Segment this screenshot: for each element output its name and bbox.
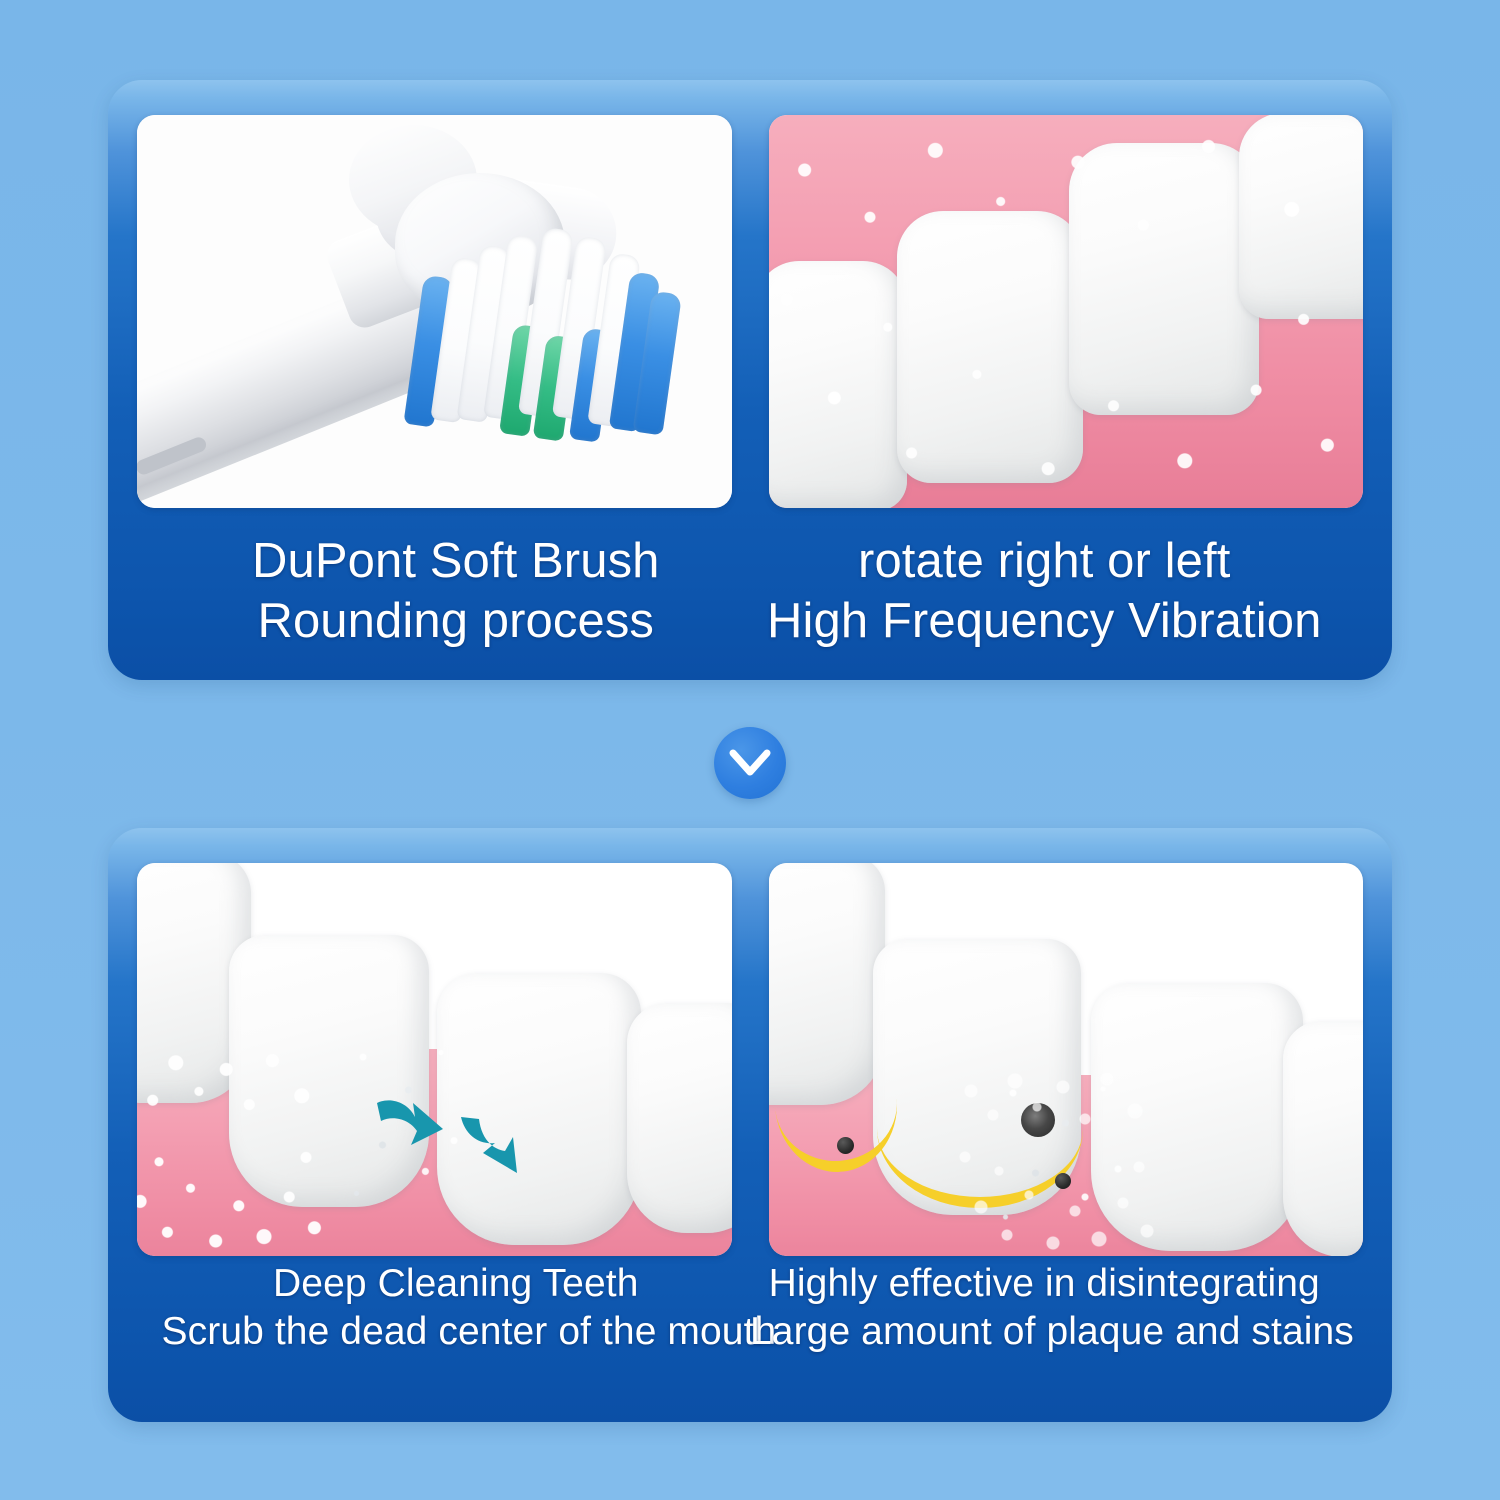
tooth-2 (897, 211, 1083, 483)
caption-plaque-line-2: Large amount of plaque and stains (750, 1308, 1338, 1356)
caption-plaque: Highly effective in disintegrating Large… (750, 1260, 1338, 1355)
caption-dupont-line-1: DuPont Soft Brush (162, 532, 750, 592)
panel-plaque-removal[interactable] (769, 863, 1364, 1256)
plaque-burst (1021, 1103, 1055, 1137)
caption-row-bottom: Deep Cleaning Teeth Scrub the dead cente… (137, 1260, 1363, 1355)
tooth-4 (1283, 1021, 1364, 1256)
rotate-left-arrow-icon (373, 1095, 459, 1165)
rotate-right-arrow-icon (455, 1111, 541, 1185)
stain-dot-1 (837, 1137, 854, 1154)
plaque-and-stains-illustration (769, 863, 1364, 1256)
electric-toothbrush-head-photo (137, 115, 732, 508)
section-divider (0, 726, 1500, 800)
caption-deep-clean-line-1: Deep Cleaning Teeth (162, 1260, 750, 1308)
caption-plaque-line-1: Highly effective in disintegrating (750, 1260, 1338, 1308)
water-spray (983, 1053, 1133, 1253)
tooth-4 (627, 1003, 732, 1233)
caption-rotate: rotate right or left High Frequency Vibr… (750, 532, 1338, 652)
feature-card-top: DuPont Soft Brush Rounding process rotat… (108, 80, 1392, 680)
panel-row-bottom (137, 863, 1363, 1256)
tooth-4 (1239, 115, 1364, 319)
panel-row-top (137, 115, 1363, 508)
stain-dot-2 (1055, 1173, 1071, 1189)
panel-brush-head[interactable] (137, 115, 732, 508)
bristle-cluster (401, 194, 701, 479)
feature-card-bottom: Deep Cleaning Teeth Scrub the dead cente… (108, 828, 1392, 1422)
caption-row-top: DuPont Soft Brush Rounding process rotat… (137, 532, 1363, 652)
caption-deep-clean-line-2: Scrub the dead center of the mouth (162, 1308, 750, 1356)
caption-dupont-line-2: Rounding process (162, 592, 750, 652)
tooth-3 (437, 973, 641, 1245)
caption-dupont: DuPont Soft Brush Rounding process (162, 532, 750, 652)
chevron-down-icon (729, 748, 771, 778)
caption-rotate-line-1: rotate right or left (750, 532, 1338, 592)
caption-rotate-line-2: High Frequency Vibration (750, 592, 1338, 652)
teeth-with-foam-illustration (769, 115, 1364, 508)
tooth-1 (769, 261, 907, 508)
caption-deep-clean: Deep Cleaning Teeth Scrub the dead cente… (162, 1260, 750, 1355)
infographic-page: DuPont Soft Brush Rounding process rotat… (0, 0, 1500, 1500)
chevron-down-badge[interactable] (714, 727, 786, 799)
tooth-3 (1069, 143, 1259, 415)
panel-deep-clean[interactable] (137, 863, 732, 1256)
panel-teeth-vibration[interactable] (769, 115, 1364, 508)
teeth-interdental-cleaning-illustration (137, 863, 732, 1256)
